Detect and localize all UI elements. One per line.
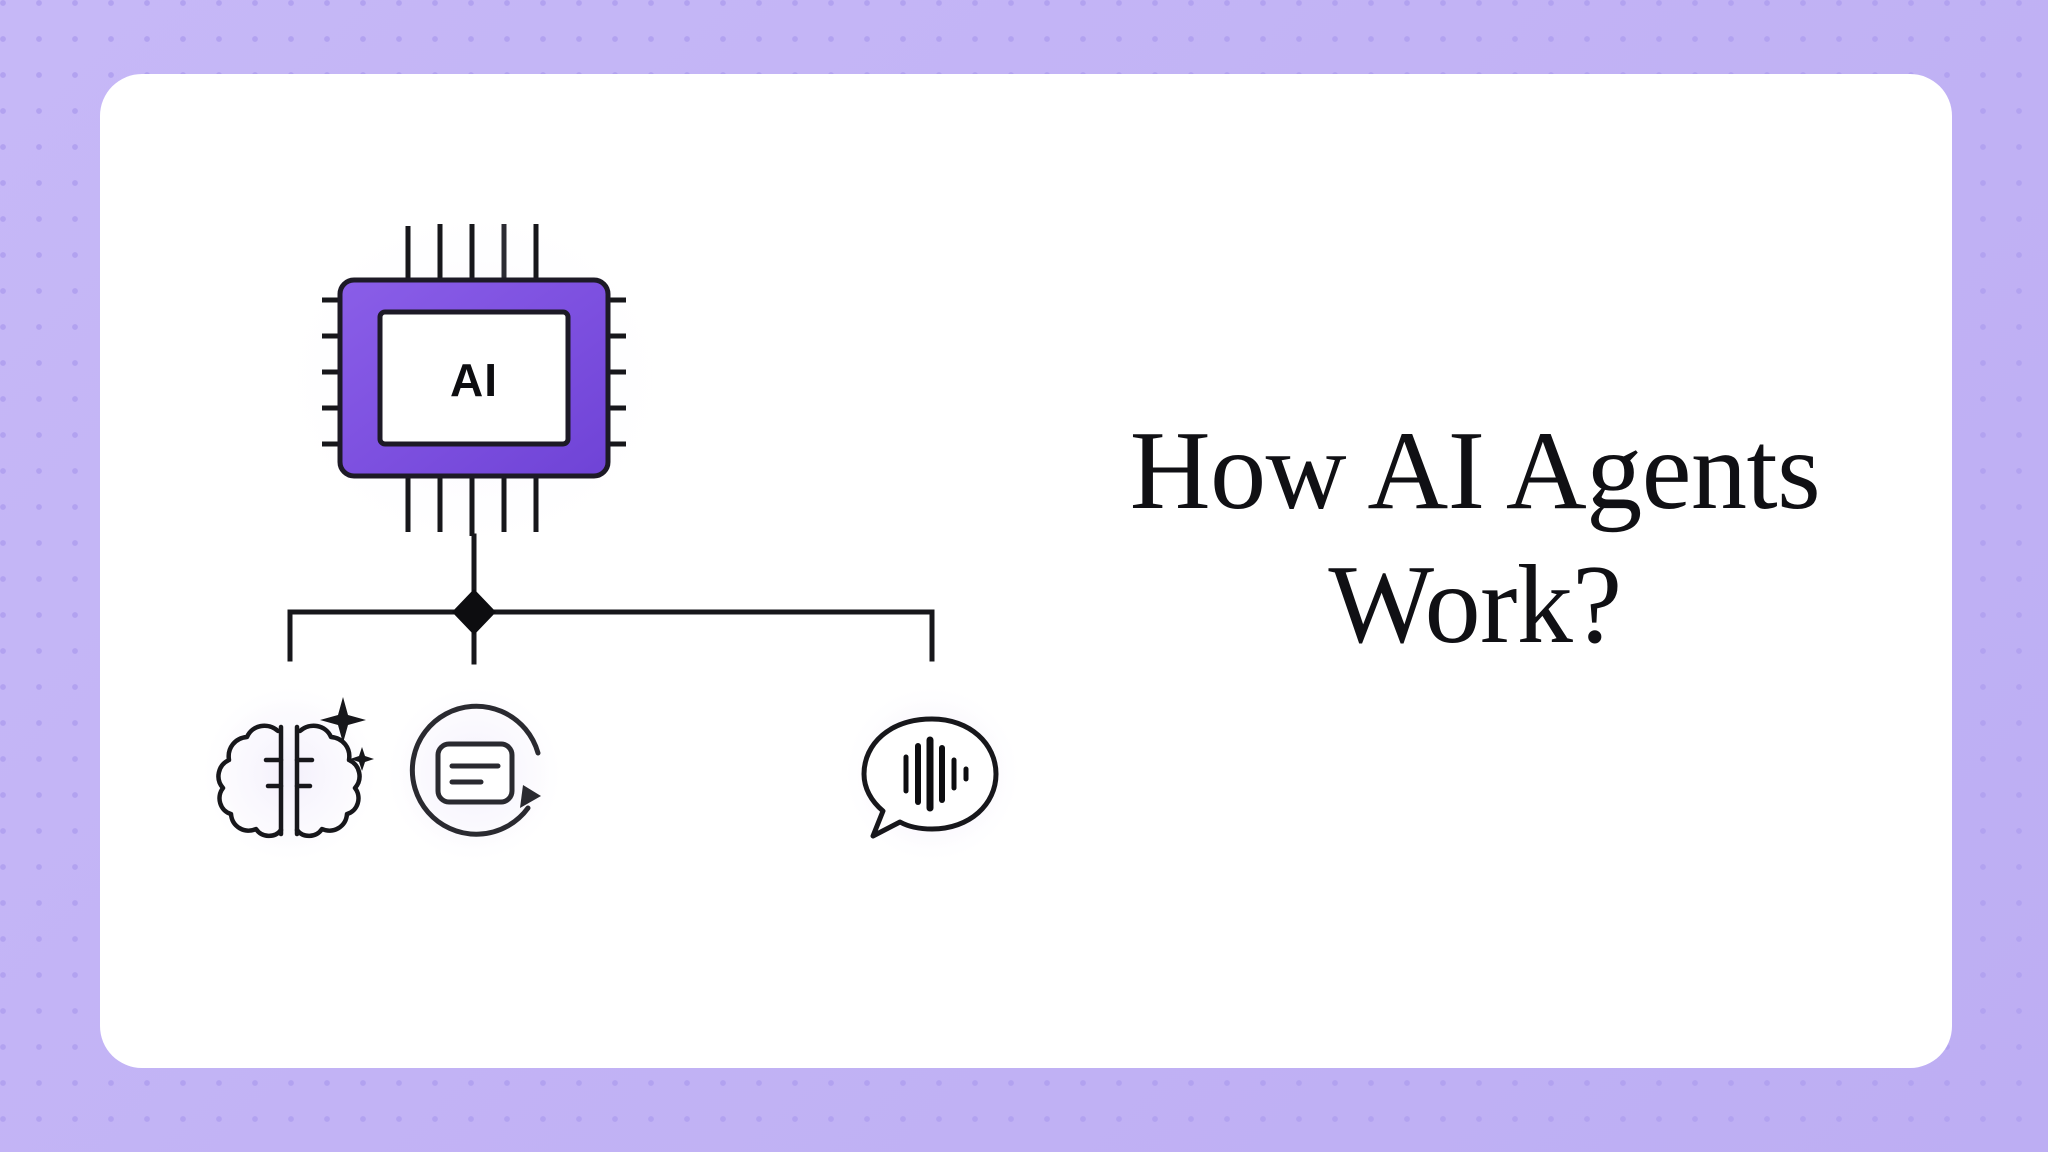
connector-lines xyxy=(290,536,932,662)
slide-card: AI xyxy=(100,74,1952,1068)
ai-agent-diagram: AI xyxy=(100,74,1100,1068)
title-line-2: Work? xyxy=(1060,538,1890,672)
branch-brain xyxy=(198,682,382,866)
title-line-1: How AI Agents xyxy=(1060,404,1890,538)
document-card-icon xyxy=(438,744,512,802)
chip-label: AI xyxy=(450,354,498,406)
branch-document xyxy=(382,682,566,866)
diamond-node xyxy=(452,589,496,635)
branch-voice xyxy=(840,682,1024,866)
slide-title: How AI Agents Work? xyxy=(1060,404,1890,673)
brain-halo xyxy=(198,682,382,866)
